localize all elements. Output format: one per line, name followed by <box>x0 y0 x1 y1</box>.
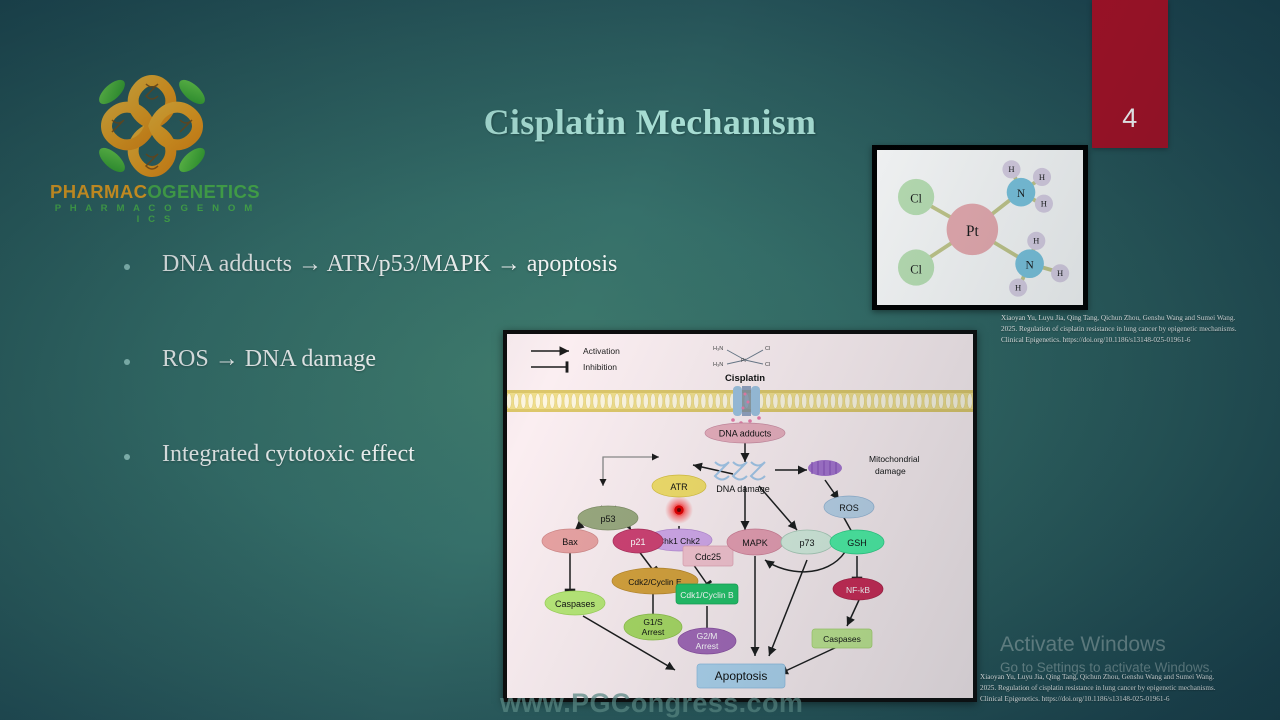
svg-text:H: H <box>1015 282 1021 292</box>
svg-text:DNA adducts: DNA adducts <box>719 429 772 439</box>
svg-text:Pt: Pt <box>966 223 979 240</box>
svg-text:p73: p73 <box>799 538 814 548</box>
svg-text:GSH: GSH <box>847 538 867 548</box>
svg-text:p53: p53 <box>600 514 615 524</box>
citation-bottom: Xiaoyan Yu, Luyu Jia, Qing Tang, Qichun … <box>980 672 1268 704</box>
svg-text:NF-kB: NF-kB <box>846 585 870 595</box>
logo-word-top-a: PHARMAC <box>50 181 147 202</box>
svg-text:Cl: Cl <box>765 346 770 352</box>
activate-windows-watermark: Activate Windows Go to Settings to activ… <box>1000 632 1270 675</box>
site-watermark: www.PGCongress.com <box>500 688 840 719</box>
svg-text:Arrest: Arrest <box>696 641 719 651</box>
svg-text:G2/M: G2/M <box>697 631 718 641</box>
logo-mark-icon <box>72 62 232 190</box>
svg-text:H: H <box>1041 199 1047 209</box>
citation-line-3: Clinical Epigenetics. https://doi.org/10… <box>1001 335 1280 346</box>
svg-text:ROS: ROS <box>839 503 859 513</box>
citation-top: Xiaoyan Yu, Luyu Jia, Qing Tang, Qichun … <box>1001 313 1280 345</box>
svg-text:H: H <box>1033 236 1039 246</box>
bullet-dot-icon <box>124 264 130 270</box>
citation-line-1: Xiaoyan Yu, Luyu Jia, Qing Tang, Qichun … <box>980 672 1268 683</box>
svg-text:N: N <box>1025 260 1033 272</box>
svg-text:H₃N: H₃N <box>713 346 723 352</box>
svg-text:Apoptosis: Apoptosis <box>715 669 768 683</box>
svg-text:Bax: Bax <box>562 537 578 547</box>
bullet-dot-icon <box>124 359 130 365</box>
logo-wordmark: PHARMACOGENETICS P H A R M A C O G E N O… <box>50 182 260 225</box>
svg-text:MAPK: MAPK <box>742 538 768 548</box>
svg-text:Cl: Cl <box>765 362 770 368</box>
bullet-text: ROS → DNA damage <box>162 345 376 374</box>
activate-windows-title: Activate Windows <box>1000 632 1270 658</box>
svg-text:Cl: Cl <box>910 192 922 206</box>
bullet-text: DNA adducts → ATR/p53/MAPK → apoptosis <box>162 250 617 279</box>
citation-line-1: Xiaoyan Yu, Luyu Jia, Qing Tang, Qichun … <box>1001 313 1280 324</box>
page-title: Cisplatin Mechanism <box>330 101 970 143</box>
svg-text:Cdc25: Cdc25 <box>695 552 721 562</box>
slide-number: 4 <box>1122 103 1138 134</box>
svg-text:Caspases: Caspases <box>823 634 861 644</box>
svg-text:Pt: Pt <box>741 358 746 364</box>
citation-line-2: 2025. Regulation of cisplatin resistance… <box>980 683 1268 694</box>
svg-text:Mitochondrial: Mitochondrial <box>869 454 920 464</box>
svg-text:H: H <box>1008 164 1014 174</box>
citation-line-3: Clinical Epigenetics. https://doi.org/10… <box>980 694 1268 705</box>
list-item: DNA adducts → ATR/p53/MAPK → apoptosis <box>124 250 684 279</box>
svg-text:Cdk2/Cyclin E: Cdk2/Cyclin E <box>628 577 682 587</box>
cisplatin-pathway-diagram: Activation Inhibition H₃NH₃N ClCl Pt Cis… <box>503 330 977 702</box>
svg-text:G1/S: G1/S <box>643 617 663 627</box>
logo-word-bottom: P H A R M A C O G E N O M I C S <box>50 203 260 225</box>
bullet-text: Integrated cytotoxic effect <box>162 440 415 469</box>
slide-number-banner: 4 <box>1092 0 1168 148</box>
slide-canvas: 4 <box>0 0 1280 720</box>
svg-text:Activation: Activation <box>583 346 620 356</box>
svg-text:damage: damage <box>875 466 906 476</box>
svg-text:Arrest: Arrest <box>642 627 665 637</box>
svg-text:Cdk1/Cyclin B: Cdk1/Cyclin B <box>680 590 734 600</box>
svg-text:Chk1 Chk2: Chk1 Chk2 <box>658 536 700 546</box>
cisplatin-molecule-image: Pt Cl Cl N N HHH HHH <box>872 145 1088 310</box>
logo-word-top-b: OGENETICS <box>147 181 260 202</box>
svg-text:H: H <box>1057 268 1063 278</box>
svg-text:Cl: Cl <box>910 262 922 276</box>
svg-text:N: N <box>1017 188 1025 200</box>
svg-text:p21: p21 <box>630 537 645 547</box>
bullet-dot-icon <box>124 454 130 460</box>
svg-text:Cisplatin: Cisplatin <box>725 373 765 384</box>
pharmacogenetics-logo: PHARMACOGENETICS P H A R M A C O G E N O… <box>50 62 260 227</box>
svg-text:Caspases: Caspases <box>555 599 596 609</box>
svg-text:Inhibition: Inhibition <box>583 362 617 372</box>
svg-text:ATR: ATR <box>670 482 688 492</box>
citation-line-2: 2025. Regulation of cisplatin resistance… <box>1001 324 1280 335</box>
svg-text:H₃N: H₃N <box>713 362 723 368</box>
svg-text:DNA damage: DNA damage <box>716 484 770 494</box>
svg-text:H: H <box>1039 172 1045 182</box>
